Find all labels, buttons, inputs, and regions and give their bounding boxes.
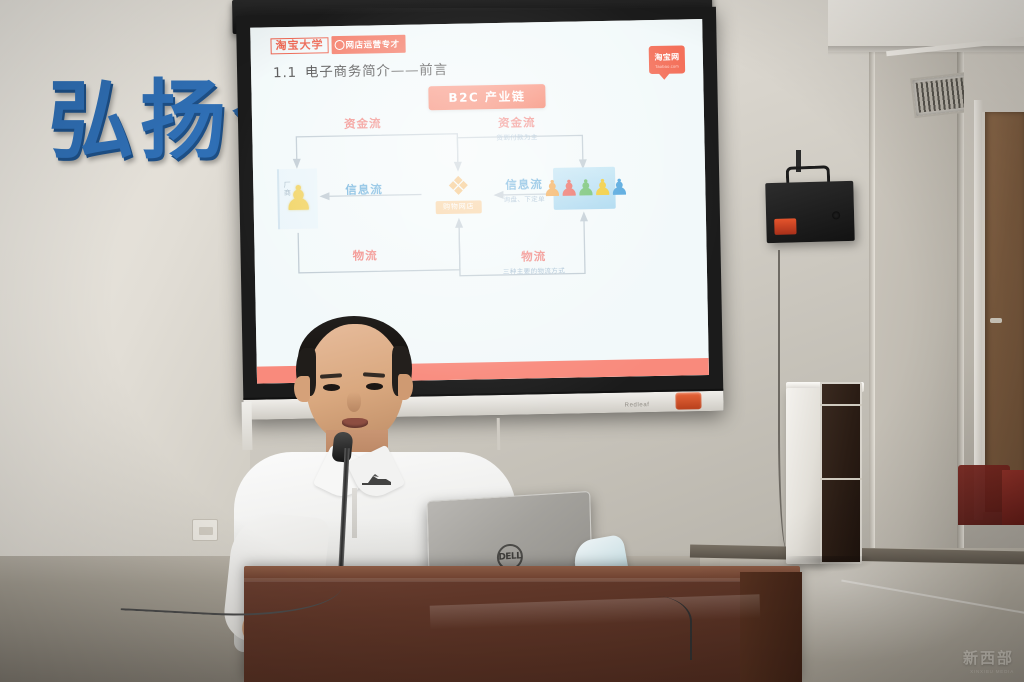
eye-left — [323, 384, 340, 391]
slide-title-number: 1.1 — [273, 65, 297, 81]
shopping-site-icon: ❖ — [446, 172, 470, 198]
course-badge: 网店运营专才 — [331, 35, 405, 54]
flow-label-logistics-right: 物流 三种主要的物流方式 — [503, 248, 566, 276]
flow-logi-left-main: 物流 — [352, 247, 377, 263]
speaker-badge-icon — [774, 218, 796, 235]
node-online-store: ❖ 购物网店 — [425, 167, 492, 218]
screen-brand-label: Redleaf — [625, 402, 650, 408]
cabinet-door[interactable] — [820, 382, 862, 564]
flow-fund-left-main: 资金流 — [344, 115, 382, 132]
taobao-logo-bubble: 淘宝网 Taobao.com — [649, 45, 686, 74]
taobao-logo-sub: Taobao.com — [655, 63, 679, 68]
wall-outlet-icon — [192, 519, 218, 541]
flow-label-logistics-left: 物流 — [352, 247, 377, 263]
floor-cabinet — [786, 388, 822, 564]
sneaker-icon — [360, 470, 394, 488]
slide-logo-row: 淘宝大学 网店运营专才 — [270, 35, 405, 56]
taobao-university-logo: 淘宝大学 — [270, 37, 328, 55]
taobao-logo-main: 淘宝网 — [654, 51, 679, 62]
photo-scene: 弘扬仓 淘宝大学 网店运营专才 1.1电子商务简介——前 — [0, 0, 1024, 682]
wall-corner — [869, 0, 875, 600]
slide-title: 1.1电子商务简介——前言 — [273, 58, 448, 81]
speaker-tweeter-icon — [832, 211, 840, 219]
b2c-banner: B2C 产业链 — [428, 84, 545, 110]
node-manufacturer: 厂商 ♟ — [277, 168, 318, 229]
shirt-placket — [352, 488, 357, 538]
flow-info-right-sub: 询盘、下定单 — [503, 193, 545, 204]
podium-side — [740, 572, 802, 682]
node-consumers: ♟♟♟♟♟ — [553, 167, 616, 210]
cabinet-divider-1 — [820, 404, 862, 406]
mouth — [342, 418, 368, 428]
flow-label-fund-left: 资金流 — [344, 115, 382, 132]
flow-label-info-left: 信息流 — [345, 181, 383, 198]
ear-right — [398, 374, 413, 400]
flow-fund-right-main: 资金流 — [496, 114, 538, 131]
flow-logi-right-sub: 三种主要的物流方式 — [503, 265, 565, 276]
node-online-store-label: 购物网店 — [436, 200, 481, 214]
ear-left — [294, 376, 310, 402]
flow-label-info-right: 信息流 询盘、下定单 — [503, 176, 545, 204]
node-manufacturer-label: 厂商 — [282, 181, 292, 197]
people-group-icon: ♟♟♟♟♟ — [542, 177, 626, 201]
door-handle-icon[interactable] — [990, 318, 1002, 323]
eye-right — [366, 383, 383, 390]
flow-logi-right-main: 物流 — [503, 248, 565, 265]
wooden-door[interactable] — [982, 112, 1024, 512]
cabinet-divider-2 — [820, 478, 862, 480]
microphone-icon — [331, 431, 353, 463]
flow-info-left-main: 信息流 — [345, 181, 383, 198]
slide-title-text: 电子商务简介——前言 — [305, 62, 448, 81]
b2c-supply-chain-diagram: 厂商 ♟ ❖ 购物网店 ♟♟♟♟♟ 资金流 — [252, 105, 708, 314]
wall-speaker — [765, 181, 855, 243]
flow-info-right-main: 信息流 — [503, 176, 545, 193]
screen-endcap — [675, 392, 701, 409]
flow-fund-right-sub: 货到付款为主 — [496, 131, 538, 142]
flow-label-fund-right: 资金流 货到付款为主 — [496, 114, 538, 142]
nose — [347, 392, 361, 412]
desk-cable-right — [600, 596, 692, 660]
chair-2 — [1002, 470, 1024, 525]
